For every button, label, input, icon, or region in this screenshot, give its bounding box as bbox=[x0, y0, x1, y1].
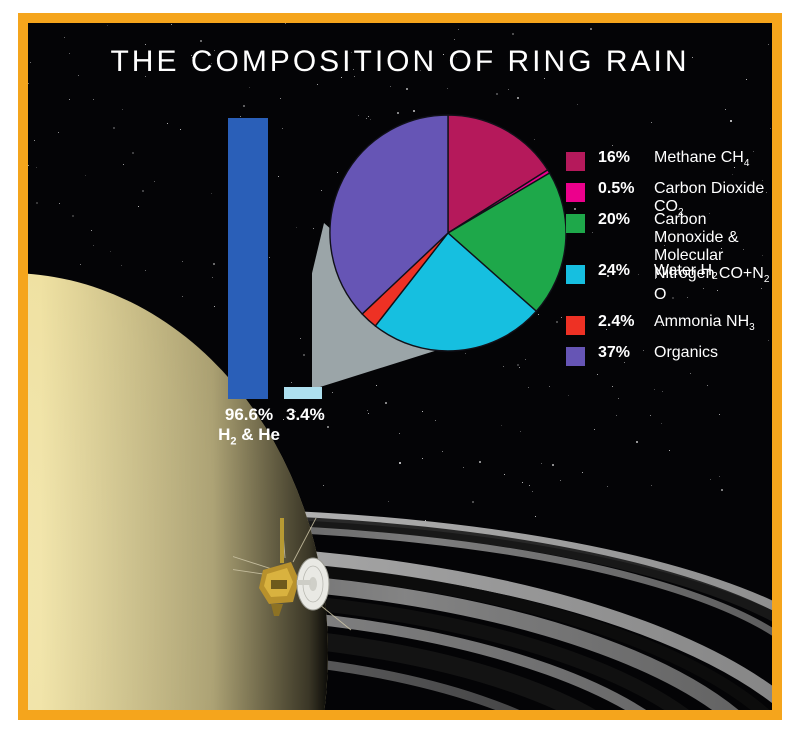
legend-item[interactable]: 0.5%Carbon Dioxide CO2 bbox=[566, 180, 772, 202]
infographic-page: THE COMPOSITION OF RING RAIN 96.6% H2 & … bbox=[0, 0, 800, 733]
legend-percent: 2.4% bbox=[598, 313, 634, 331]
legend-item[interactable]: 24%Water H2O bbox=[566, 262, 772, 304]
bar-h2-he-label: 96.6% H2 & He bbox=[214, 405, 284, 451]
legend-label: Water H2O bbox=[654, 262, 718, 304]
legend-item[interactable]: 2.4%Ammonia NH3 bbox=[566, 313, 772, 335]
legend-label: Organics bbox=[654, 344, 718, 362]
legend-swatch bbox=[566, 152, 585, 171]
bar-h2-he-tail: & He bbox=[236, 425, 279, 444]
legend-item[interactable]: 37%Organics bbox=[566, 344, 772, 366]
legend-percent: 16% bbox=[598, 149, 630, 167]
legend-swatch bbox=[566, 347, 585, 366]
space-scene: THE COMPOSITION OF RING RAIN 96.6% H2 & … bbox=[28, 23, 772, 710]
pie-slices bbox=[330, 115, 566, 351]
bar-h2-he-pct: 96.6% bbox=[225, 405, 273, 424]
legend-swatch bbox=[566, 265, 585, 284]
legend-label: Methane CH4 bbox=[654, 149, 749, 173]
bar-other bbox=[284, 387, 322, 399]
bar-h2-he-name: H bbox=[218, 425, 230, 444]
legend-percent: 0.5% bbox=[598, 180, 634, 198]
legend-percent: 24% bbox=[598, 262, 630, 280]
legend-item[interactable]: 20%Carbon Monoxide &Molecular Nitrogen C… bbox=[566, 211, 772, 253]
legend-swatch bbox=[566, 214, 585, 233]
page-title: THE COMPOSITION OF RING RAIN bbox=[28, 45, 772, 79]
bar-h2-he bbox=[228, 118, 268, 399]
legend: 16%Methane CH40.5%Carbon Dioxide CO220%C… bbox=[566, 149, 772, 375]
legend-percent: 37% bbox=[598, 344, 630, 362]
legend-item[interactable]: 16%Methane CH4 bbox=[566, 149, 772, 171]
amber-frame: THE COMPOSITION OF RING RAIN 96.6% H2 & … bbox=[18, 13, 782, 720]
pie-chart bbox=[312, 111, 572, 411]
legend-percent: 20% bbox=[598, 211, 630, 229]
chart-layer: THE COMPOSITION OF RING RAIN 96.6% H2 & … bbox=[28, 23, 772, 710]
bar-other-label: 3.4% bbox=[286, 405, 325, 425]
legend-label: Ammonia NH3 bbox=[654, 313, 755, 337]
legend-swatch bbox=[566, 316, 585, 335]
bar-other-pct: 3.4% bbox=[286, 405, 325, 424]
pie-svg bbox=[312, 111, 572, 411]
legend-swatch bbox=[566, 183, 585, 202]
